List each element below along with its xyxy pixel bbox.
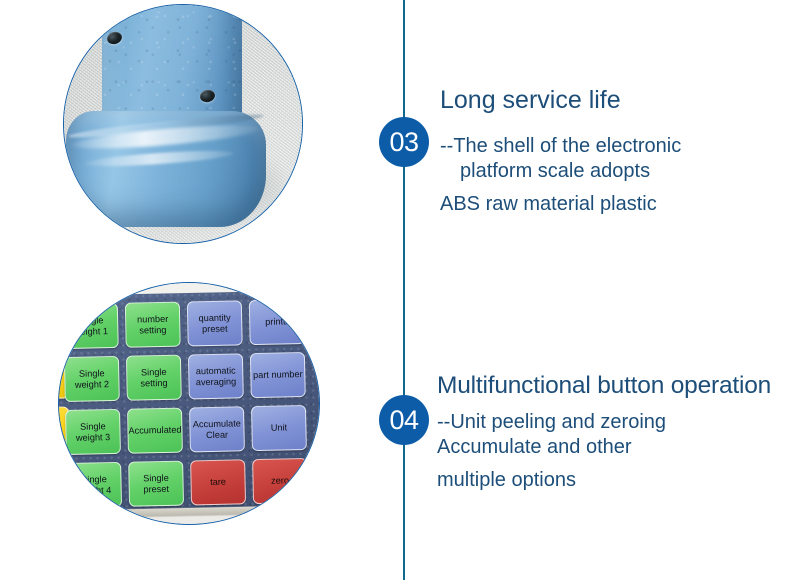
keypad-row: Single weight 3 Accumulated Accumulate C… bbox=[65, 404, 320, 455]
keypad-key-part-number[interactable]: part number bbox=[250, 352, 306, 398]
keypad-key-single-setting[interactable]: Single setting bbox=[126, 355, 182, 401]
keypad-key-single-weight-3[interactable]: Single weight 3 bbox=[65, 409, 121, 455]
feature-description-line: multiple options bbox=[437, 468, 789, 493]
photo-blue-plastic-post-base bbox=[63, 4, 303, 244]
keypad-key-grid: Single weight 1 number setting quantity … bbox=[63, 298, 320, 516]
feature-description-line: ABS raw material plastic bbox=[440, 192, 785, 217]
feature-number-badge-03: 03 bbox=[379, 117, 429, 167]
feature-description-03: --The shell of the electronic platform s… bbox=[440, 134, 785, 217]
keypad-row: Single weight 1 number setting quantity … bbox=[63, 298, 320, 349]
feature-title-04: Multifunctional button operation bbox=[437, 371, 789, 401]
post-scene bbox=[63, 4, 303, 244]
keypad-key-tare[interactable]: tare bbox=[190, 459, 246, 505]
keypad-key-quantity-preset[interactable]: quantity preset bbox=[187, 300, 243, 346]
feature-description-04: --Unit peeling and zeroing Accumulate an… bbox=[437, 410, 789, 493]
keypad-key-accumulated[interactable]: Accumulated bbox=[127, 408, 183, 454]
feature-number-badge-04: 04 bbox=[379, 395, 429, 445]
keypad-key-single-weight-1[interactable]: Single weight 1 bbox=[63, 303, 119, 349]
keypad-key-unit[interactable]: Unit bbox=[251, 405, 307, 451]
keypad-key-single-weight-2[interactable]: Single weight 2 bbox=[64, 356, 120, 402]
feature-description-line: platform scale adopts bbox=[440, 159, 785, 184]
keypad-key-single-preset[interactable]: Single preset bbox=[128, 461, 184, 507]
feature-description-line: --The shell of the electronic bbox=[440, 134, 785, 159]
keypad-scene: MNO WXYZ Single weight 1 number setting … bbox=[58, 282, 320, 525]
keypad-row: Single weight 2 Single setting automatic… bbox=[64, 351, 320, 402]
feature-panel: MNO WXYZ Single weight 1 number setting … bbox=[0, 0, 790, 580]
feature-description-line: Accumulate and other bbox=[437, 435, 789, 460]
keypad-row: Single weight 4 Single preset tare zero bbox=[66, 457, 320, 508]
keypad-key-zero[interactable]: zero bbox=[252, 458, 308, 504]
keypad-key-number-setting[interactable]: number setting bbox=[125, 302, 181, 348]
feature-text-block-04: Multifunctional button operation --Unit … bbox=[437, 371, 789, 493]
photo-multifunction-keypad: MNO WXYZ Single weight 1 number setting … bbox=[58, 282, 320, 525]
keypad-key-accumulate-clear[interactable]: Accumulate Clear bbox=[189, 406, 245, 452]
feature-text-block-03: Long service life --The shell of the ele… bbox=[440, 85, 785, 217]
keypad-key-print[interactable]: printu bbox=[249, 299, 305, 345]
feature-description-line: --Unit peeling and zeroing bbox=[437, 410, 789, 435]
vertical-divider bbox=[403, 0, 405, 580]
keypad-key-automatic-averaging[interactable]: automatic averaging bbox=[188, 353, 244, 399]
keypad-key-single-weight-4[interactable]: Single weight 4 bbox=[66, 462, 122, 508]
feature-title-03: Long service life bbox=[440, 85, 785, 115]
